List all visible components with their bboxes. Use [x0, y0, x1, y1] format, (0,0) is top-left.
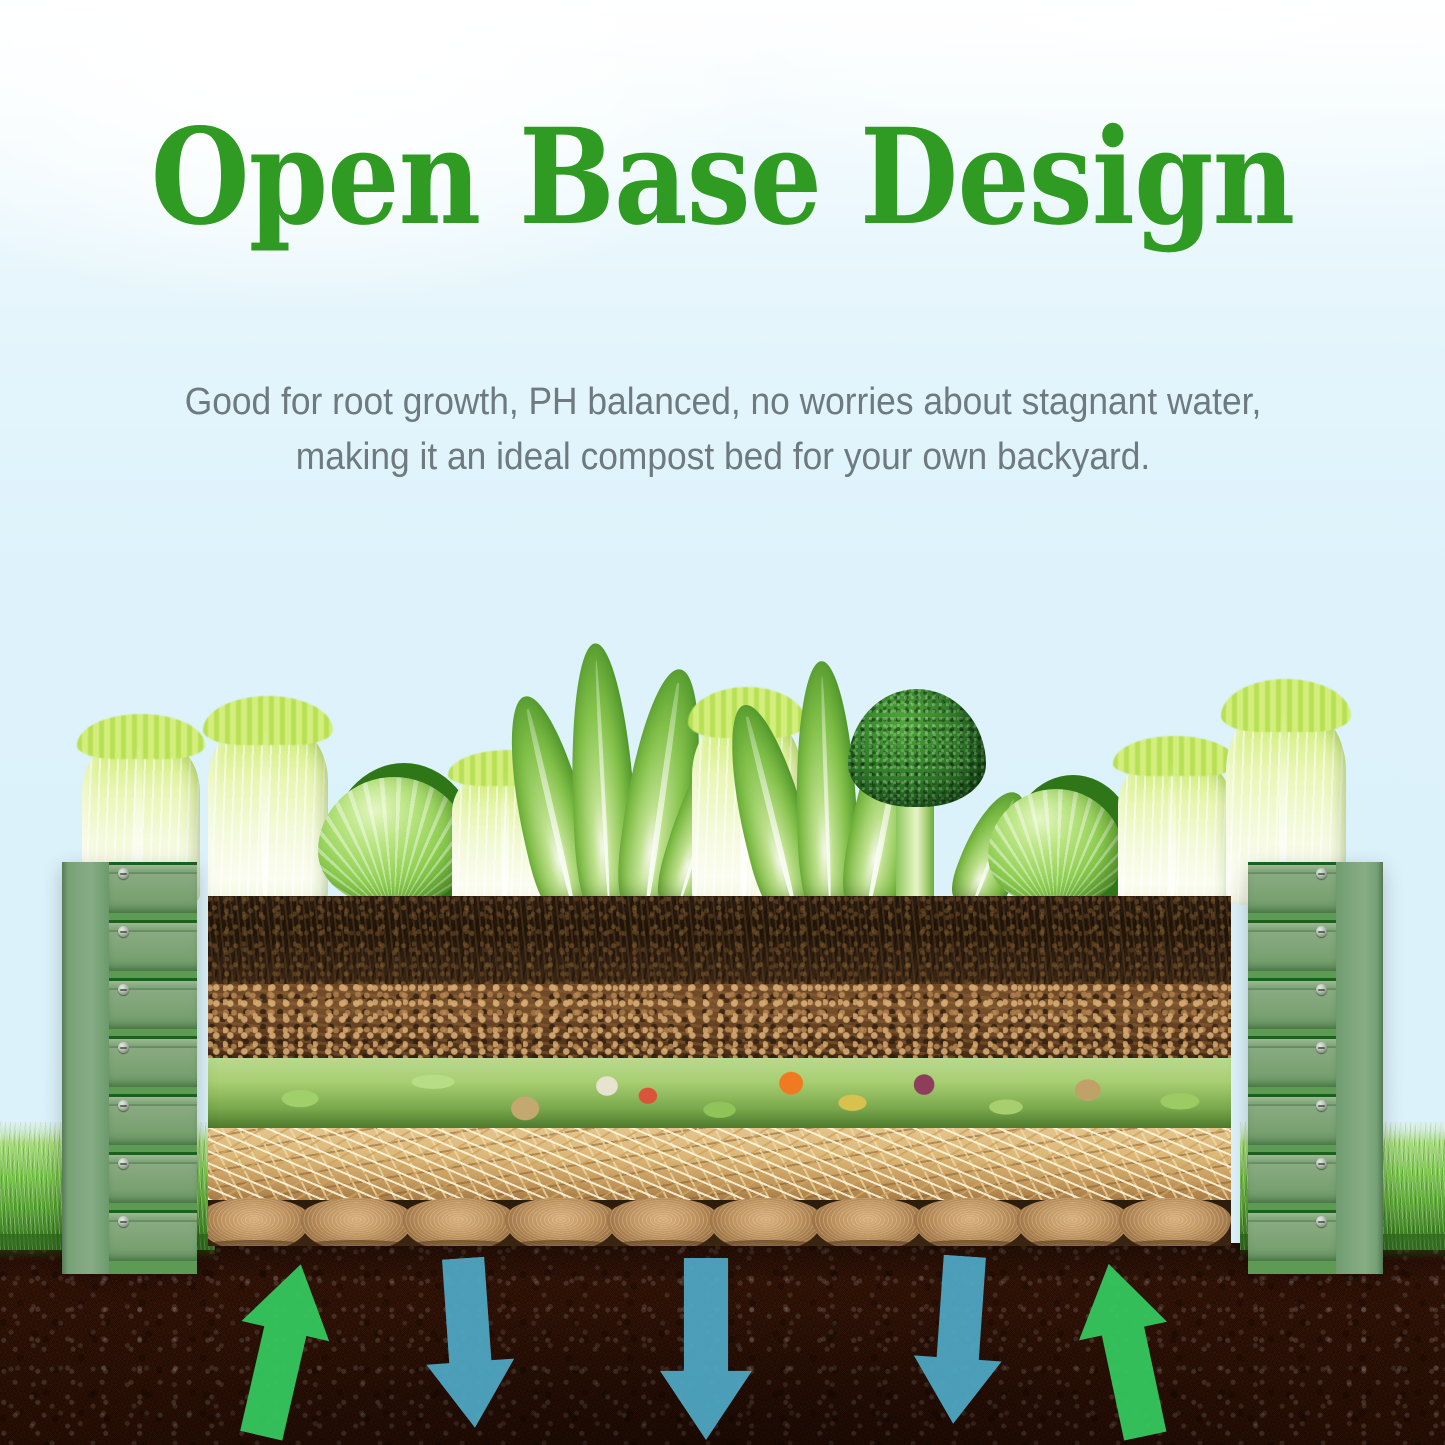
log-round	[607, 1198, 720, 1246]
subtitle-line-1: Good for root growth, PH balanced, no wo…	[104, 375, 1341, 430]
post-outer-flange	[62, 862, 109, 1274]
post-slat	[109, 1210, 197, 1261]
bed-layer-dark-compost-soil	[208, 896, 1231, 984]
drainage-arrow-down-3	[909, 1253, 1009, 1427]
post-slat	[109, 1094, 197, 1145]
drainage-arrow-down-2	[660, 1258, 752, 1440]
post-slat	[109, 920, 197, 971]
product-feature-graphic: Open Base Design Good for root growth, P…	[0, 0, 1445, 1445]
bed-cross-section	[208, 896, 1231, 1246]
log-round	[208, 1198, 310, 1246]
assembly-screw	[118, 1042, 129, 1053]
log-round	[914, 1198, 1027, 1246]
assembly-screw	[118, 1100, 129, 1111]
assembly-screw	[118, 926, 129, 937]
plant-napa-cabbage	[208, 717, 328, 905]
bed-layer-food-scraps	[208, 1058, 1231, 1128]
post-slat	[1248, 1094, 1336, 1145]
assembly-screw	[1316, 984, 1327, 995]
assembly-screw	[1316, 1042, 1327, 1053]
assembly-screw	[118, 1158, 129, 1169]
bed-layer-log-rounds	[208, 1200, 1231, 1246]
post-slat-panel	[109, 862, 197, 1274]
assembly-screw	[1316, 1216, 1327, 1227]
planter-corner-post-right[interactable]	[1248, 862, 1383, 1274]
post-slat	[1248, 1210, 1336, 1261]
post-slat	[109, 1036, 197, 1087]
post-slat	[1248, 862, 1336, 913]
plant-broccoli-head	[848, 689, 986, 807]
assembly-screw	[1316, 926, 1327, 937]
log-round	[1016, 1198, 1129, 1246]
post-slat	[1248, 1036, 1336, 1087]
subtitle-line-2: making it an ideal compost bed for your …	[104, 430, 1341, 485]
drainage-arrow-down-1	[419, 1255, 519, 1431]
log-round	[300, 1198, 413, 1246]
assembly-screw	[118, 984, 129, 995]
assembly-screw	[1316, 1100, 1327, 1111]
post-slat	[1248, 978, 1336, 1029]
page-subtitle: Good for root growth, PH balanced, no wo…	[104, 375, 1341, 484]
log-round	[1118, 1198, 1231, 1246]
assembly-screw	[1316, 868, 1327, 879]
post-slat	[109, 978, 197, 1029]
bed-layer-bark-mulch	[208, 984, 1231, 1058]
post-slat	[1248, 920, 1336, 971]
bed-layer-straw	[208, 1128, 1231, 1200]
log-round	[812, 1198, 925, 1246]
post-slat	[109, 862, 197, 913]
assembly-screw	[118, 868, 129, 879]
post-slat-panel	[1248, 862, 1336, 1274]
assembly-screw	[118, 1216, 129, 1227]
planter-corner-post-left[interactable]	[62, 862, 197, 1274]
vegetable-row	[0, 600, 1445, 905]
post-slat	[1248, 1152, 1336, 1203]
log-round	[505, 1198, 618, 1246]
post-outer-flange	[1336, 862, 1383, 1274]
post-slat	[109, 1152, 197, 1203]
plant-napa-cabbage	[1118, 753, 1232, 905]
page-title: Open Base Design	[101, 108, 1344, 248]
log-round	[709, 1198, 822, 1246]
log-round	[402, 1198, 515, 1246]
assembly-screw	[1316, 1158, 1327, 1169]
